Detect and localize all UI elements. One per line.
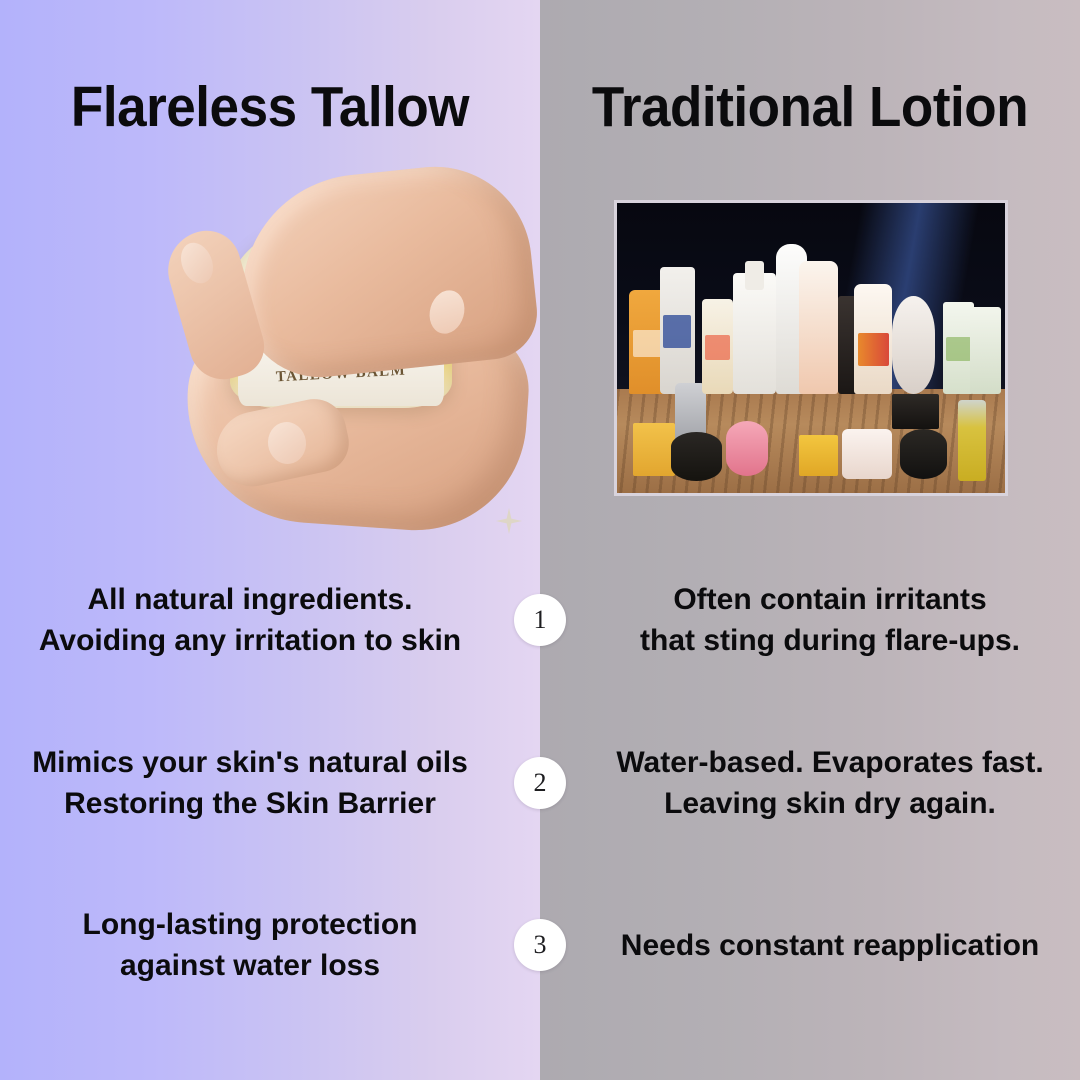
product-item <box>633 423 676 475</box>
row-2-right-text: Water-based. Evaporates fast. Leaving sk… <box>580 737 1080 829</box>
comparison-row: Mimics your skin's natural oils Restorin… <box>0 737 1080 829</box>
row-2-right-line-2: Leaving skin dry again. <box>664 783 996 824</box>
row-1-left-line-1: All natural ingredients. <box>87 579 412 620</box>
row-2-left-line-2: Restoring the Skin Barrier <box>64 783 436 824</box>
row-2-left-text: Mimics your skin's natural oils Restorin… <box>0 737 500 829</box>
product-item <box>900 429 947 478</box>
product-item <box>660 267 695 395</box>
row-2-number-badge: 2 <box>514 757 566 809</box>
row-1-right-line-1: Often contain irritants <box>673 579 986 620</box>
product-item <box>733 273 776 395</box>
row-2-right-line-1: Water-based. Evaporates fast. <box>616 742 1043 783</box>
traditional-lotion-products-photo <box>614 200 1008 496</box>
row-3-right-text: Needs constant reapplication <box>580 899 1080 991</box>
row-1-left-line-2: Avoiding any irritation to skin <box>39 620 461 661</box>
tallow-balm-product-image: TALLOW BALM <box>120 170 540 530</box>
row-1-right-text: Often contain irritants that sting durin… <box>580 574 1080 666</box>
row-1-right-line-2: that sting during flare-ups. <box>640 620 1020 661</box>
product-label <box>633 330 664 357</box>
product-label <box>858 333 889 366</box>
row-3-number-badge: 3 <box>514 919 566 971</box>
product-item <box>799 261 838 394</box>
comparison-row: All natural ingredients. Avoiding any ir… <box>0 574 1080 666</box>
product-item <box>958 400 985 481</box>
product-item <box>799 435 838 476</box>
row-1-left-text: All natural ingredients. Avoiding any ir… <box>0 574 500 666</box>
left-column-title: Flareless Tallow <box>19 68 521 146</box>
comparison-row: Long-lasting protection against water lo… <box>0 899 1080 991</box>
product-label <box>663 315 691 348</box>
product-item <box>970 307 1001 394</box>
row-2-left-line-1: Mimics your skin's natural oils <box>32 742 468 783</box>
hand-upper <box>230 157 541 384</box>
product-item <box>854 284 893 394</box>
row-3-right-line-1: Needs constant reapplication <box>621 925 1039 966</box>
product-item <box>892 394 939 429</box>
right-column-title: Traditional Lotion <box>559 68 1061 146</box>
row-1-number-badge: 1 <box>514 594 566 646</box>
product-item <box>892 296 935 395</box>
row-3-left-text: Long-lasting protection against water lo… <box>0 899 500 991</box>
product-item <box>671 432 721 481</box>
product-label <box>705 335 730 360</box>
product-item <box>842 429 892 478</box>
product-item <box>726 421 769 476</box>
product-label <box>946 337 971 361</box>
row-3-left-line-2: against water loss <box>120 945 380 986</box>
product-item <box>745 261 764 290</box>
row-3-left-line-1: Long-lasting protection <box>83 904 418 945</box>
comparison-infographic: Flareless Tallow Traditional Lotion TALL… <box>0 0 1080 1080</box>
product-item <box>702 299 733 395</box>
